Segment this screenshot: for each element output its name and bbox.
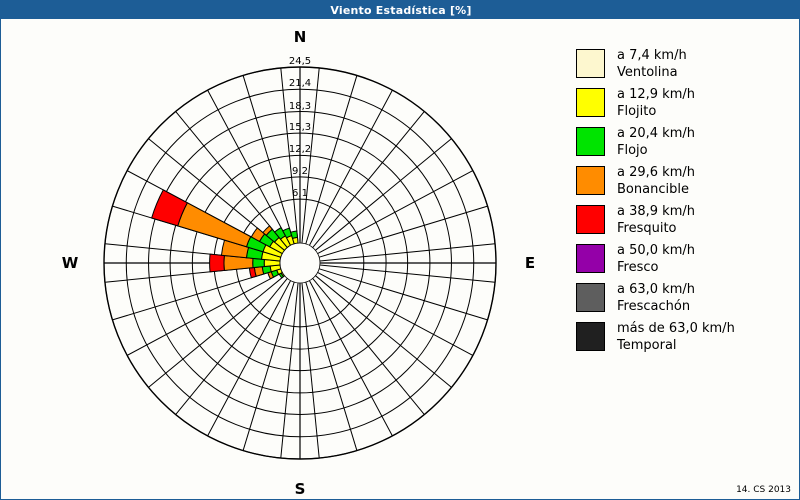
legend-category: Fresquito — [617, 220, 695, 237]
color-swatch — [576, 166, 605, 195]
legend-category: Temporal — [617, 337, 735, 354]
radial-tick-label: 18,3 — [280, 101, 320, 112]
compass-label-north: N — [280, 28, 320, 46]
legend-item[interactable]: a 50,0 km/hFresco — [576, 242, 791, 276]
legend-speed: a 63,0 km/h — [617, 282, 695, 297]
petal-segment — [210, 254, 225, 272]
legend-category: Flojo — [617, 142, 695, 159]
legend-speed: a 7,4 km/h — [617, 48, 687, 63]
legend-category: Flojito — [617, 103, 695, 120]
legend-item[interactable]: a 63,0 km/hFrescachón — [576, 281, 791, 315]
legend-speed: a 50,0 km/h — [617, 243, 695, 258]
legend-label: a 29,6 km/hBonancible — [617, 164, 695, 198]
wind-rose-window: Viento Estadística [%] NESW 6,19,212,215… — [0, 0, 800, 500]
legend-speed: a 20,4 km/h — [617, 126, 695, 141]
color-swatch — [576, 127, 605, 156]
legend-category: Fresco — [617, 259, 695, 276]
legend-item[interactable]: más de 63,0 km/hTemporal — [576, 320, 791, 354]
radial-tick-label: 12,2 — [280, 144, 320, 155]
legend-item[interactable]: a 20,4 km/hFlojo — [576, 125, 791, 159]
legend: a 7,4 km/hVentolinaa 12,9 km/hFlojitoa 2… — [576, 37, 791, 359]
legend-item[interactable]: a 38,9 km/hFresquito — [576, 203, 791, 237]
color-swatch — [576, 49, 605, 78]
legend-speed: a 12,9 km/h — [617, 87, 695, 102]
center-hole — [280, 243, 320, 283]
legend-label: a 12,9 km/hFlojito — [617, 86, 695, 120]
wind-rose-plot: NESW 6,19,212,215,318,321,424,5 — [1, 19, 561, 499]
compass-label-west: W — [50, 254, 90, 272]
color-swatch — [576, 88, 605, 117]
grid-spoke — [243, 282, 294, 450]
color-swatch — [576, 244, 605, 273]
compass-label-east: E — [510, 254, 550, 272]
legend-category: Frescachón — [617, 298, 695, 315]
window-title-bar: Viento Estadística [%] — [1, 1, 800, 19]
legend-label: a 38,9 km/hFresquito — [617, 203, 695, 237]
color-swatch — [576, 322, 605, 351]
center-hole-circle — [280, 243, 320, 283]
legend-category: Ventolina — [617, 64, 687, 81]
grid-spoke — [306, 282, 357, 450]
compass-label-south: S — [280, 480, 320, 498]
legend-item[interactable]: a 12,9 km/hFlojito — [576, 86, 791, 120]
grid-spoke — [313, 278, 425, 414]
legend-label: más de 63,0 km/hTemporal — [617, 320, 735, 354]
legend-speed: más de 63,0 km/h — [617, 321, 735, 336]
grid-spoke — [176, 278, 288, 414]
legend-item[interactable]: a 7,4 km/hVentolina — [576, 47, 791, 81]
legend-label: a 20,4 km/hFlojo — [617, 125, 695, 159]
color-swatch — [576, 283, 605, 312]
legend-label: a 50,0 km/hFresco — [617, 242, 695, 276]
window-title: Viento Estadística [%] — [330, 4, 471, 17]
grid-spoke — [315, 139, 451, 251]
radial-tick-label: 9,2 — [280, 166, 320, 177]
chart-canvas: NESW 6,19,212,215,318,321,424,5 a 7,4 km… — [1, 19, 799, 499]
legend-speed: a 29,6 km/h — [617, 165, 695, 180]
legend-speed: a 38,9 km/h — [617, 204, 695, 219]
color-swatch — [576, 205, 605, 234]
legend-category: Bonancible — [617, 181, 695, 198]
radial-tick-label: 24,5 — [280, 56, 320, 67]
petal-segment — [178, 203, 251, 247]
legend-item[interactable]: a 29,6 km/hBonancible — [576, 164, 791, 198]
legend-label: a 7,4 km/hVentolina — [617, 47, 687, 81]
grid-spoke — [148, 276, 284, 388]
legend-label: a 63,0 km/hFrescachón — [617, 281, 695, 315]
grid-spoke — [315, 276, 451, 388]
grid-spoke — [319, 206, 487, 257]
credit-text: 14. CS 2013 — [736, 485, 791, 495]
radial-tick-label: 21,4 — [280, 78, 320, 89]
grid-spoke — [313, 111, 425, 247]
petal-segment — [291, 231, 298, 238]
radial-tick-label: 6,1 — [280, 188, 320, 199]
grid-spoke — [319, 269, 487, 320]
radial-tick-label: 15,3 — [280, 122, 320, 133]
